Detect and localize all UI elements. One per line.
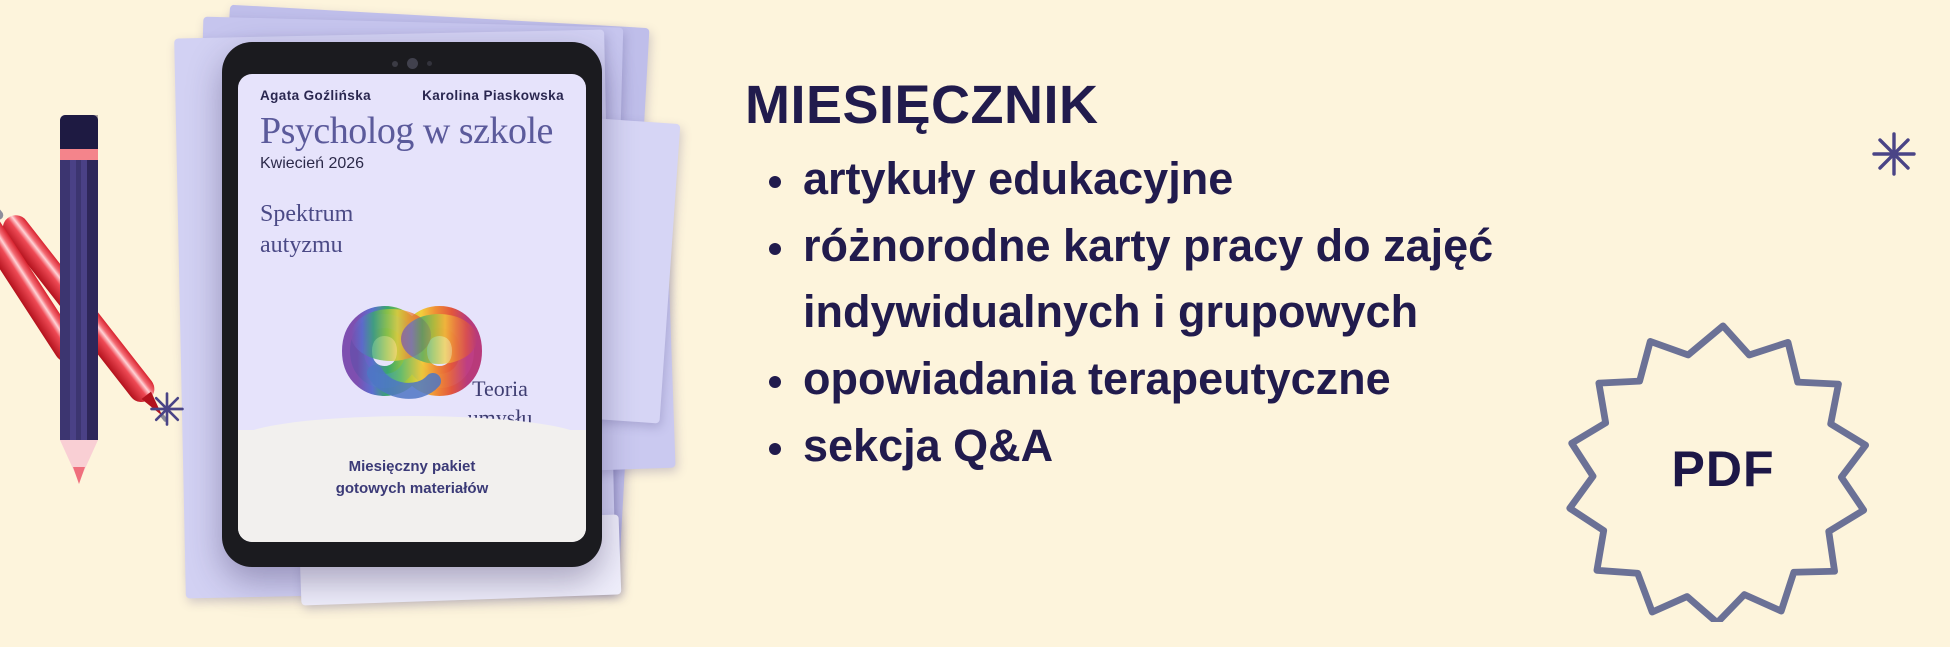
cover-topic-line-1: Spektrum [260,199,564,230]
sparkle-icon [150,392,184,431]
cover-topic: Spektrum autyzmu [238,173,586,260]
sparkle-icon [1872,132,1916,181]
list-item: artykuły edukacyjne [803,146,1875,211]
cover-theory-line-1: Teoria [440,374,560,403]
cover-band-line-1: Miesięczny pakiet [238,456,586,478]
magazine-cover: Agata Goźlińska Karolina Piaskowska Psyc… [238,74,586,542]
feature-line-1: różnorodne karty pracy do zajęć [803,213,1875,278]
tablet-camera [222,58,602,69]
pencil-icon [60,115,98,490]
cover-topic-line-2: autyzmu [260,230,564,261]
product-artwork: Agata Goźlińska Karolina Piaskowska Psyc… [0,0,700,647]
pdf-badge-label: PDF [1562,440,1884,498]
feature-line-1: artykuły edukacyjne [803,146,1875,211]
pdf-badge: PDF [1562,322,1884,622]
cover-date: Kwiecień 2026 [238,153,586,173]
cover-band-line-2: gotowych materiałów [238,478,586,500]
cover-author-2: Karolina Piaskowska [422,88,564,103]
cover-bottom-band: Miesięczny pakiet gotowych materiałów [238,430,586,542]
promo-banner: Agata Goźlińska Karolina Piaskowska Psyc… [0,0,1950,647]
promo-heading: MIESIĘCZNIK [745,78,1875,132]
cover-title: Psycholog w szkole [238,103,586,153]
cover-authors: Agata Goźlińska Karolina Piaskowska [238,74,586,103]
tablet-device: Agata Goźlińska Karolina Piaskowska Psyc… [222,42,602,567]
cover-author-1: Agata Goźlińska [260,88,371,103]
